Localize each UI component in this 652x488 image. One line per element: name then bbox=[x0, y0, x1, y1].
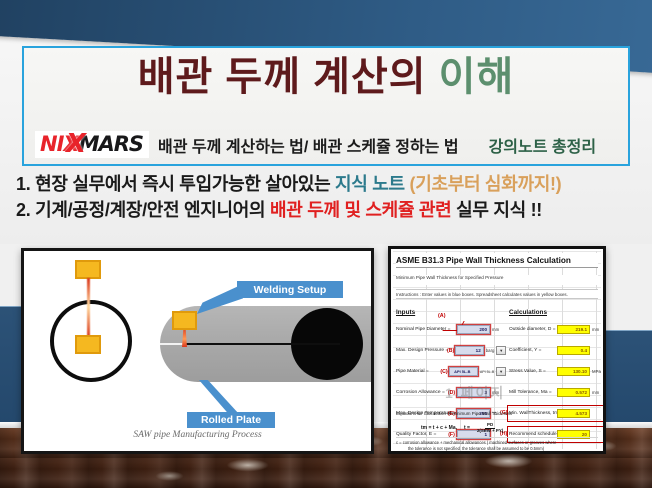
header-subtitle-row: NIXMARS X 배관 두께 계산하는 법/ 배관 스케쥴 정하는 법 강의노… bbox=[24, 132, 628, 157]
page-title: 배관 두께 계산의 이해 bbox=[24, 55, 628, 100]
page-watermark: 1 페이지 bbox=[445, 383, 505, 403]
bullet-line-2: 2. 기계/공정/계장/안전 엔지니어의 배관 두께 및 스케쥴 관련 실무 지… bbox=[16, 198, 646, 224]
calc-label-mill-tolerance: Mill Tolerance, Ma = bbox=[509, 390, 557, 395]
equation-body: tm = t + c + Ma, t = PD 2(SEW + PY) bbox=[421, 423, 503, 433]
spreadsheet-footnote: c = corrosion allowance + mechanical all… bbox=[396, 437, 598, 452]
welding-head-icon bbox=[172, 311, 197, 330]
figure-saw-pipe-process: Welding Setup Rolled Plate SAW pipe Manu… bbox=[21, 248, 374, 454]
calc-unit-stress-value: MPa bbox=[592, 369, 601, 374]
spreadsheet-instructions: Instructions : Enter values in blue boxe… bbox=[396, 289, 598, 299]
spreadsheet-grid: ASME B31.3 Pipe Wall Thickness Calculati… bbox=[393, 251, 601, 449]
input-unit-design-pressure: barg bbox=[486, 348, 495, 353]
page-title-part1: 배관 두께 계산의 bbox=[138, 55, 427, 99]
chevron-down-icon-pressure[interactable]: ▼ bbox=[496, 346, 506, 355]
input-field-nominal-diameter[interactable]: 200 bbox=[457, 325, 490, 334]
bullet-1-seg2: 지식 노트 bbox=[335, 174, 409, 194]
calc-label-min-wall-thickness: Min. WallThickness, tm = bbox=[509, 411, 557, 416]
header-subtitle: 배관 두께 계산하는 법/ 배관 스케쥴 정하는 법 bbox=[158, 133, 459, 157]
input-label-corrosion-allowance: Corrosion Allowance = bbox=[396, 390, 446, 395]
welding-pad-bottom-icon bbox=[75, 335, 101, 354]
equation-tm: tm = t + c + Ma, bbox=[421, 425, 457, 431]
equation-header: Equations for Calculation of Minimum Pip… bbox=[396, 411, 512, 416]
bullet-1-number: 1. bbox=[16, 174, 30, 194]
input-label-pipe-material: Pipe Material = bbox=[396, 369, 439, 374]
slide-canvas: 배관 두께 계산의 이해 NIXMARS X 배관 두께 계산하는 법/ 배관 … bbox=[0, 0, 652, 488]
calc-row-coefficient: Coefficient, Y = 0.4 bbox=[509, 344, 606, 357]
calc-row-outside-diameter: Outside diameter, D = 219.1 mm bbox=[509, 323, 606, 336]
weld-arc-vertical-icon bbox=[87, 278, 90, 338]
spreadsheet-subtitle: Minimum Pipe Wall Thickness for Specifie… bbox=[396, 275, 598, 285]
calc-row-min-wall-thickness: Min. WallThickness, tm = 4.573 bbox=[509, 407, 606, 420]
calc-value-outside-diameter: 219.1 bbox=[557, 325, 590, 334]
bullet-2-seg2: 배관 두께 및 스케쥴 관련 bbox=[270, 200, 451, 220]
calc-unit-mill-tolerance: mm bbox=[592, 390, 599, 395]
rolled-plate-callout-tail bbox=[199, 380, 239, 414]
input-row-pipe-material[interactable]: Pipe Material = (C) API 5L-B API 5L-B ▼ bbox=[396, 365, 506, 378]
logo-x-icon: X bbox=[66, 131, 85, 157]
callout-rolled-plate: Rolled Plate bbox=[187, 412, 275, 428]
calc-value-coefficient: 0.4 bbox=[557, 346, 590, 355]
input-unit-pipe-material: API 5L-B bbox=[480, 370, 494, 374]
bullet-1-seg3: (기초부터 심화까지!) bbox=[410, 174, 562, 194]
equation-fraction: PD 2(SEW + PY) bbox=[477, 423, 503, 433]
spreadsheet-title: ASME B31.3 Pipe Wall Thickness Calculati… bbox=[396, 253, 598, 268]
input-label-nominal-diameter: Nominal Pipe Diameter = bbox=[396, 327, 446, 332]
page-title-part2: 이해 bbox=[439, 55, 515, 99]
header-subtitle-right: 강의노트 총정리 bbox=[489, 133, 597, 157]
footnote-line-2: the tolerance is not specified, the tole… bbox=[396, 446, 598, 452]
nixmars-logo: NIXMARS X bbox=[36, 132, 148, 157]
input-tag-design-pressure: (B) bbox=[446, 348, 455, 354]
calc-row-mill-tolerance: Mill Tolerance, Ma = 0.572 mm bbox=[509, 386, 606, 399]
annotation-tag-a: (A) bbox=[438, 313, 445, 319]
input-unit-nominal-diameter: mm bbox=[492, 327, 499, 332]
calc-unit-outside-diameter: mm bbox=[592, 327, 599, 332]
equation-denominator: 2(SEW + PY) bbox=[477, 429, 503, 434]
bullet-2-seg3: 실무 지식 !! bbox=[451, 200, 542, 220]
logo-text-mars: MARS bbox=[79, 134, 143, 155]
equation-t-label: t = bbox=[464, 425, 470, 431]
pipe-weld-seam bbox=[184, 343, 340, 345]
calc-value-min-wall-thickness: 4.573 bbox=[557, 409, 590, 418]
calc-label-stress-value: Stress Value, S = bbox=[509, 369, 557, 374]
figure-left-caption: SAW pipe Manufacturing Process bbox=[27, 430, 368, 440]
column-header-calculations: Calculations bbox=[509, 309, 547, 316]
calc-label-outside-diameter: Outside diameter, D = bbox=[509, 327, 557, 332]
input-field-pipe-material[interactable]: API 5L-B bbox=[449, 367, 478, 376]
input-row-design-pressure[interactable]: Max. Design Pressure = (B) 12 barg ▼ bbox=[396, 344, 506, 357]
bullet-list: 1. 현장 실무에서 즉시 투입가능한 살아있는 지식 노트 (기초부터 심화까… bbox=[16, 172, 646, 223]
calc-label-coefficient: Coefficient, Y = bbox=[509, 348, 557, 353]
pipe-seam-highlight bbox=[160, 343, 186, 345]
welding-pad-top-icon bbox=[75, 260, 101, 279]
bullet-2-number: 2. bbox=[16, 200, 30, 220]
figure-asme-spreadsheet: ASME B31.3 Pipe Wall Thickness Calculati… bbox=[388, 246, 606, 454]
input-tag-pipe-material: (C) bbox=[439, 369, 449, 375]
calc-value-stress-value: 130.10 bbox=[557, 367, 590, 376]
input-field-design-pressure[interactable]: 12 bbox=[455, 346, 484, 355]
column-header-inputs: Inputs bbox=[396, 309, 415, 316]
callout-welding-setup: Welding Setup bbox=[237, 281, 343, 298]
calc-value-mill-tolerance: 0.572 bbox=[557, 388, 590, 397]
chevron-down-icon-material[interactable]: ▼ bbox=[496, 367, 506, 376]
figure-left-canvas: Welding Setup Rolled Plate SAW pipe Manu… bbox=[27, 254, 368, 448]
input-label-design-pressure: Max. Design Pressure = bbox=[396, 348, 446, 353]
bullet-2-seg1: 기계/공정/계장/안전 엔지니어의 bbox=[30, 200, 270, 220]
bullet-line-1: 1. 현장 실무에서 즉시 투입가능한 살아있는 지식 노트 (기초부터 심화까… bbox=[16, 172, 646, 198]
bullet-1-seg1: 현장 실무에서 즉시 투입가능한 살아있는 bbox=[30, 174, 335, 194]
header-box: 배관 두께 계산의 이해 NIXMARS X 배관 두께 계산하는 법/ 배관 … bbox=[22, 46, 630, 166]
input-row-nominal-diameter[interactable]: Nominal Pipe Diameter = 200 mm bbox=[396, 323, 506, 336]
calc-row-stress-value: Stress Value, S = 130.10 MPa bbox=[509, 365, 606, 378]
